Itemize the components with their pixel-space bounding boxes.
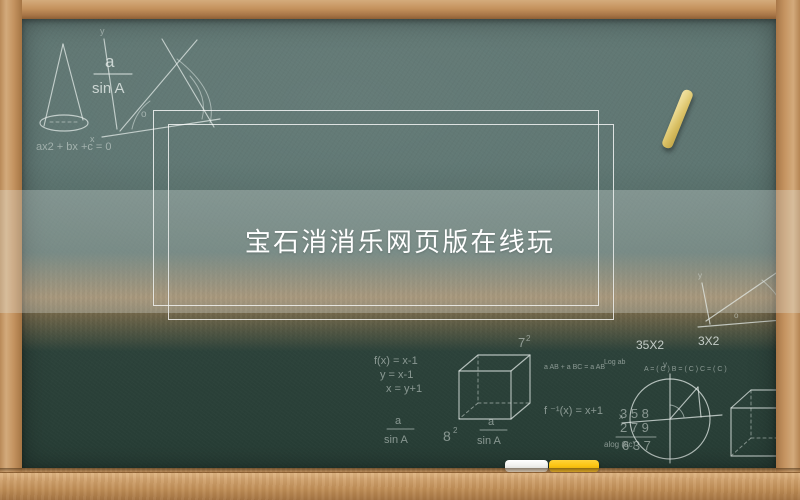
svg-text:3 5 8: 3 5 8 [620, 406, 649, 421]
svg-text:Log ab: Log ab [604, 359, 626, 366]
page-title: 宝石消消乐网页版在线玩 [0, 226, 800, 259]
svg-text:3X2: 3X2 [698, 334, 720, 348]
svg-text:f ⁻¹(x) = x+1: f ⁻¹(x) = x+1 [544, 405, 603, 417]
svg-text:x: x [619, 412, 623, 421]
svg-text:y: y [698, 271, 702, 280]
svg-text:A = ( C ) B = ( C ) C = ( C ): A = ( C ) B = ( C ) C = ( C ) [644, 366, 727, 373]
frame-top-edge [0, 0, 800, 19]
svg-text:o: o [734, 311, 739, 320]
svg-text:y: y [663, 360, 667, 369]
banner-image: a sin A ax2 + bx +c = 0 y x o f [0, 0, 800, 500]
chalk-tray [0, 472, 800, 500]
svg-text:35X2: 35X2 [636, 338, 664, 352]
